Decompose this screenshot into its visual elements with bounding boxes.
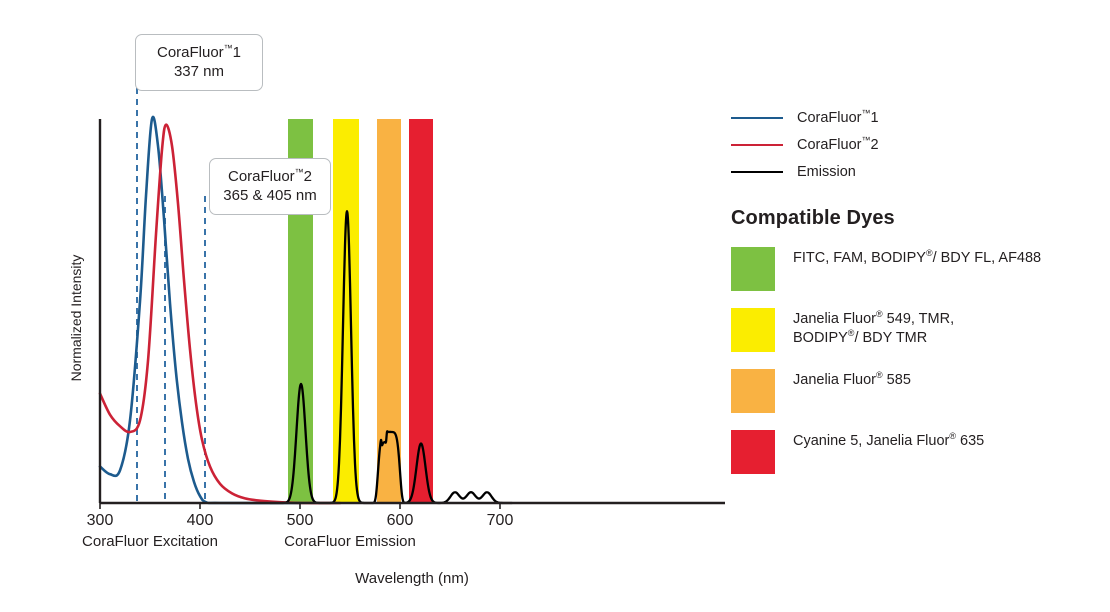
dye-color-swatch bbox=[731, 369, 775, 413]
legend-label: Emission bbox=[797, 164, 856, 180]
dye-label-line: Janelia Fluor® 549, TMR, bbox=[793, 310, 954, 329]
dye-label-line: Cyanine 5, Janelia Fluor® 635 bbox=[793, 432, 984, 451]
legend-label: CoraFluor™1 bbox=[797, 110, 879, 126]
dye-color-swatch bbox=[731, 308, 775, 352]
x-tick-label-500: 500 bbox=[287, 512, 314, 529]
legend-row: Emission bbox=[731, 158, 1103, 185]
dye-row: FITC, FAM, BODIPY®/ BDY FL, AF488 bbox=[731, 247, 1103, 291]
dye-label-line: BODIPY®/ BDY TMR bbox=[793, 329, 954, 348]
registered-icon: ® bbox=[876, 309, 883, 319]
legend-line-swatch bbox=[731, 117, 783, 119]
dye-color-swatch bbox=[731, 430, 775, 474]
dye-row: Janelia Fluor® 549, TMR,BODIPY®/ BDY TMR bbox=[731, 308, 1103, 352]
dye-row: Cyanine 5, Janelia Fluor® 635 bbox=[731, 430, 1103, 474]
x-axis-title: Wavelength (nm) bbox=[355, 570, 469, 587]
trademark-icon: ™ bbox=[224, 43, 233, 53]
series-legend: CoraFluor™1CoraFluor™2Emission bbox=[731, 104, 1103, 185]
coraflour1-callout: CoraFluor™1 337 nm bbox=[135, 34, 263, 91]
dye-label: Janelia Fluor® 549, TMR,BODIPY®/ BDY TMR bbox=[793, 308, 954, 348]
dye-label-line: FITC, FAM, BODIPY®/ BDY FL, AF488 bbox=[793, 249, 1041, 268]
legend-row: CoraFluor™1 bbox=[731, 104, 1103, 131]
x-tick-label-600: 600 bbox=[387, 512, 414, 529]
legend-row: CoraFluor™2 bbox=[731, 131, 1103, 158]
callout2-line2: 365 & 405 nm bbox=[220, 186, 320, 205]
legend-line-swatch bbox=[731, 171, 783, 173]
dye-label-line: Janelia Fluor® 585 bbox=[793, 371, 911, 390]
trademark-icon: ™ bbox=[295, 167, 304, 177]
chart-figure: 300400500600700CoraFluor ExcitationCoraF… bbox=[0, 0, 1110, 612]
legend-label: CoraFluor™2 bbox=[797, 137, 879, 153]
registered-icon: ® bbox=[926, 248, 933, 258]
region-label-emission: CoraFluor Emission bbox=[284, 533, 416, 550]
callout2-line1: CoraFluor™2 bbox=[228, 168, 312, 185]
callout1-line1: CoraFluor™1 bbox=[157, 44, 241, 61]
x-tick-label-700: 700 bbox=[487, 512, 514, 529]
x-tick-label-400: 400 bbox=[187, 512, 214, 529]
x-tick-label-300: 300 bbox=[87, 512, 114, 529]
coraflour2-callout: CoraFluor™2 365 & 405 nm bbox=[209, 158, 331, 215]
y-axis-title: Normalized Intensity bbox=[68, 255, 84, 382]
dye-row: Janelia Fluor® 585 bbox=[731, 369, 1103, 413]
dye-label: Cyanine 5, Janelia Fluor® 635 bbox=[793, 430, 984, 451]
compatible-dyes-title: Compatible Dyes bbox=[731, 207, 1103, 230]
callout1-line2: 337 nm bbox=[146, 62, 252, 81]
excitation-marker-lines bbox=[137, 88, 205, 503]
legend-line-swatch bbox=[731, 144, 783, 146]
dye-label: FITC, FAM, BODIPY®/ BDY FL, AF488 bbox=[793, 247, 1041, 268]
region-label-excitation: CoraFluor Excitation bbox=[82, 533, 218, 550]
compatible-dyes-list: FITC, FAM, BODIPY®/ BDY FL, AF488Janelia… bbox=[731, 247, 1103, 474]
legend-and-dyes-panel: CoraFluor™1CoraFluor™2Emission Compatibl… bbox=[731, 104, 1103, 474]
registered-icon: ® bbox=[876, 370, 883, 380]
dye-label: Janelia Fluor® 585 bbox=[793, 369, 911, 390]
dye-color-swatch bbox=[731, 247, 775, 291]
